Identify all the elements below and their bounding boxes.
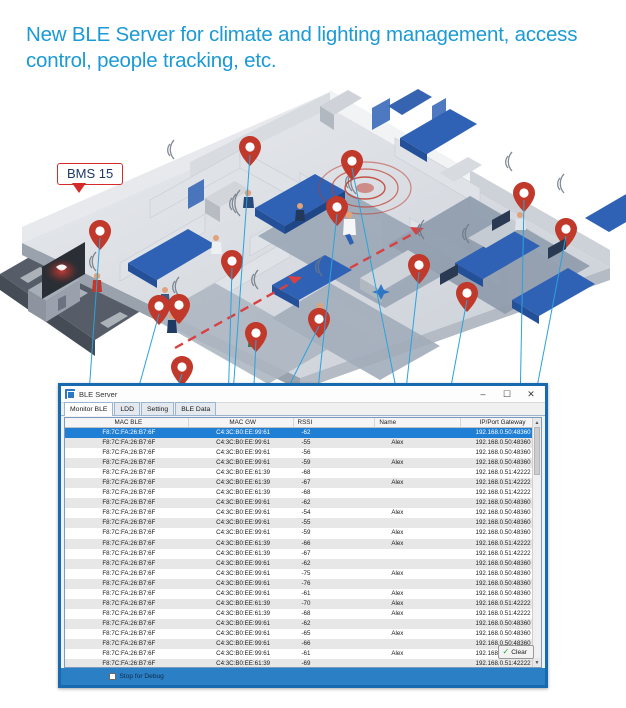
table-row[interactable]: F8:7C:FA:26:B7:6FC4:3C:B0:EE:99:61-75Ale…: [65, 569, 541, 579]
cell-rssi: -62: [294, 428, 376, 438]
cell-mac-gw: C4:3C:B0:EE:61:39: [189, 488, 294, 498]
window-statusbar: Stop for Debug: [61, 668, 545, 685]
cell-mac-gw: C4:3C:B0:EE:99:61: [189, 448, 294, 458]
cell-mac-gw: C4:3C:B0:EE:99:61: [189, 579, 294, 589]
cell-rssi: -69: [294, 659, 376, 667]
table-row[interactable]: F8:7C:FA:26:B7:6FC4:3C:B0:EE:61:39-68192…: [65, 468, 541, 478]
ble-devices-table: MAC BLE MAC GW RSSI Name IP/Port Gateway…: [64, 417, 542, 668]
cell-mac-ble: F8:7C:FA:26:B7:6F: [65, 488, 189, 498]
table-row[interactable]: F8:7C:FA:26:B7:6FC4:3C:B0:EE:61:39-66Ale…: [65, 539, 541, 549]
cell-mac-gw: C4:3C:B0:EE:99:61: [189, 619, 294, 629]
cell-mac-gw: C4:3C:B0:EE:99:61: [189, 458, 294, 468]
cell-rssi: -68: [294, 609, 376, 619]
cell-mac-ble: F8:7C:FA:26:B7:6F: [65, 478, 189, 488]
cell-ip-port: 192.168.0.50:48360: [461, 448, 541, 458]
cell-rssi: -65: [294, 629, 376, 639]
cell-rssi: -55: [294, 438, 376, 448]
table-row[interactable]: F8:7C:FA:26:B7:6FC4:3C:B0:EE:99:61-55192…: [65, 518, 541, 528]
tab-setting[interactable]: Setting: [141, 402, 174, 415]
cell-name: Alex: [375, 599, 461, 609]
cell-mac-ble: F8:7C:FA:26:B7:6F: [65, 508, 189, 518]
cell-rssi: -67: [294, 549, 376, 559]
table-row[interactable]: F8:7C:FA:26:B7:6FC4:3C:B0:EE:99:61-65Ale…: [65, 629, 541, 639]
clear-button-label: Clear: [511, 649, 527, 656]
cell-name: Alex: [375, 508, 461, 518]
cell-rssi: -59: [294, 458, 376, 468]
cell-ip-port: 192.168.0.51:42222: [461, 488, 541, 498]
close-icon[interactable]: ✕: [519, 386, 543, 402]
cell-name: Alex: [375, 458, 461, 468]
window-titlebar: BLE Server – ☐ ✕: [61, 386, 545, 403]
cell-ip-port: 192.168.0.51:42222: [461, 478, 541, 488]
table-row[interactable]: F8:7C:FA:26:B7:6FC4:3C:B0:EE:99:61-59Ale…: [65, 458, 541, 468]
cell-rssi: -61: [294, 649, 376, 659]
cell-mac-gw: C4:3C:B0:EE:61:39: [189, 468, 294, 478]
window-controls: – ☐ ✕: [471, 386, 543, 402]
cell-rssi: -56: [294, 448, 376, 458]
table-body: F8:7C:FA:26:B7:6FC4:3C:B0:EE:99:61-62192…: [65, 428, 541, 667]
cell-rssi: -62: [294, 619, 376, 629]
cell-ip-port: 192.168.0.51:42222: [461, 659, 541, 667]
scrollbar-track[interactable]: [533, 427, 541, 658]
cell-mac-ble: F8:7C:FA:26:B7:6F: [65, 659, 189, 667]
scroll-down-arrow-icon[interactable]: ▼: [533, 658, 541, 667]
cell-ip-port: 192.168.0.50:48360: [461, 508, 541, 518]
cell-mac-gw: C4:3C:B0:EE:99:61: [189, 438, 294, 448]
table-row[interactable]: F8:7C:FA:26:B7:6FC4:3C:B0:EE:99:61-62192…: [65, 559, 541, 569]
cell-mac-ble: F8:7C:FA:26:B7:6F: [65, 498, 189, 508]
cell-mac-ble: F8:7C:FA:26:B7:6F: [65, 569, 189, 579]
cell-rssi: -62: [294, 559, 376, 569]
cell-ip-port: 192.168.0.50:48360: [461, 569, 541, 579]
cell-mac-gw: C4:3C:B0:EE:99:61: [189, 569, 294, 579]
cell-mac-gw: C4:3C:B0:EE:61:39: [189, 659, 294, 667]
stop-for-debug-label: Stop for Debug: [120, 673, 164, 680]
table-row[interactable]: F8:7C:FA:26:B7:6FC4:3C:B0:EE:99:61-56192…: [65, 448, 541, 458]
callout-pointer-icon: [72, 183, 86, 193]
cell-name: Alex: [375, 539, 461, 549]
cell-rssi: -54: [294, 508, 376, 518]
cell-rssi: -68: [294, 468, 376, 478]
table-row[interactable]: F8:7C:FA:26:B7:6FC4:3C:B0:EE:61:39-67Ale…: [65, 478, 541, 488]
table-row[interactable]: F8:7C:FA:26:B7:6FC4:3C:B0:EE:99:61-55Ale…: [65, 438, 541, 448]
table-row[interactable]: F8:7C:FA:26:B7:6FC4:3C:B0:EE:99:61-59Ale…: [65, 528, 541, 538]
table-row[interactable]: F8:7C:FA:26:B7:6FC4:3C:B0:EE:99:61-66192…: [65, 639, 541, 649]
cell-name: Alex: [375, 629, 461, 639]
cell-mac-gw: C4:3C:B0:EE:99:61: [189, 498, 294, 508]
cell-mac-gw: C4:3C:B0:EE:99:61: [189, 518, 294, 528]
table-row[interactable]: F8:7C:FA:26:B7:6FC4:3C:B0:EE:99:61-61Ale…: [65, 649, 541, 659]
table-header-row: MAC BLE MAC GW RSSI Name IP/Port Gateway: [65, 418, 541, 428]
app-logo-icon: [65, 389, 75, 399]
page-title: New BLE Server for climate and lighting …: [26, 22, 616, 74]
cell-mac-gw: C4:3C:B0:EE:99:61: [189, 639, 294, 649]
table-scrollbar[interactable]: ▲ ▼: [532, 418, 541, 667]
cell-ip-port: 192.168.0.50:48360: [461, 458, 541, 468]
cell-mac-ble: F8:7C:FA:26:B7:6F: [65, 518, 189, 528]
cell-mac-gw: C4:3C:B0:EE:99:61: [189, 629, 294, 639]
cell-mac-ble: F8:7C:FA:26:B7:6F: [65, 559, 189, 569]
table-row[interactable]: F8:7C:FA:26:B7:6FC4:3C:B0:EE:61:39-70Ale…: [65, 599, 541, 609]
table-row[interactable]: F8:7C:FA:26:B7:6FC4:3C:B0:EE:99:61-62192…: [65, 498, 541, 508]
cell-ip-port: 192.168.0.50:48360: [461, 559, 541, 569]
cell-mac-gw: C4:3C:B0:EE:99:61: [189, 559, 294, 569]
table-row[interactable]: F8:7C:FA:26:B7:6FC4:3C:B0:EE:99:61-76192…: [65, 579, 541, 589]
cell-mac-ble: F8:7C:FA:26:B7:6F: [65, 528, 189, 538]
cell-rssi: -70: [294, 599, 376, 609]
window-title: BLE Server: [79, 390, 471, 399]
cell-ip-port: 192.168.0.50:48360: [461, 579, 541, 589]
bms-callout: BMS 15: [57, 163, 123, 185]
cell-mac-gw: C4:3C:B0:EE:99:61: [189, 649, 294, 659]
cell-mac-gw: C4:3C:B0:EE:99:61: [189, 428, 294, 438]
cell-mac-ble: F8:7C:FA:26:B7:6F: [65, 639, 189, 649]
cell-ip-port: 192.168.0.50:48360: [461, 589, 541, 599]
cell-rssi: -59: [294, 528, 376, 538]
cell-ip-port: 192.168.0.50:48360: [461, 518, 541, 528]
cell-ip-port: 192.168.0.51:42222: [461, 539, 541, 549]
cell-name: Alex: [375, 589, 461, 599]
column-header-mac-ble[interactable]: MAC BLE: [65, 418, 189, 427]
cell-mac-ble: F8:7C:FA:26:B7:6F: [65, 619, 189, 629]
cell-rssi: -67: [294, 478, 376, 488]
cell-rssi: -75: [294, 569, 376, 579]
cell-mac-gw: C4:3C:B0:EE:61:39: [189, 478, 294, 488]
column-header-rssi[interactable]: RSSI: [294, 418, 376, 427]
cell-mac-ble: F8:7C:FA:26:B7:6F: [65, 468, 189, 478]
cell-ip-port: 192.168.0.51:42222: [461, 468, 541, 478]
cell-name: Alex: [375, 478, 461, 488]
cell-mac-ble: F8:7C:FA:26:B7:6F: [65, 589, 189, 599]
cell-mac-ble: F8:7C:FA:26:B7:6F: [65, 609, 189, 619]
table-row[interactable]: F8:7C:FA:26:B7:6FC4:3C:B0:EE:61:39-67192…: [65, 549, 541, 559]
cell-ip-port: 192.168.0.51:42222: [461, 549, 541, 559]
ble-server-window: BLE Server – ☐ ✕ Monitor BLE LDD Setting…: [58, 383, 548, 688]
cell-mac-gw: C4:3C:B0:EE:99:61: [189, 528, 294, 538]
cell-rssi: -62: [294, 498, 376, 508]
maximize-icon[interactable]: ☐: [495, 386, 519, 402]
table-row[interactable]: F8:7C:FA:26:B7:6FC4:3C:B0:EE:61:39-68192…: [65, 488, 541, 498]
bms-callout-label: BMS 15: [67, 166, 113, 181]
cell-rssi: -68: [294, 488, 376, 498]
clear-button[interactable]: ✓ Clear: [498, 645, 534, 659]
cell-ip-port: 192.168.0.50:48360: [461, 498, 541, 508]
cell-ip-port: 192.168.0.50:48360: [461, 528, 541, 538]
scrollbar-thumb[interactable]: [534, 427, 540, 475]
cell-rssi: -61: [294, 589, 376, 599]
page-root: New BLE Server for climate and lighting …: [0, 0, 626, 708]
table-row[interactable]: F8:7C:FA:26:B7:6FC4:3C:B0:EE:61:39-69192…: [65, 659, 541, 667]
cell-mac-gw: C4:3C:B0:EE:99:61: [189, 508, 294, 518]
check-icon: ✓: [503, 648, 510, 656]
cell-ip-port: 192.168.0.50:48360: [461, 629, 541, 639]
cell-ip-port: 192.168.0.51:42222: [461, 609, 541, 619]
cell-ip-port: 192.168.0.50:48360: [461, 438, 541, 448]
table-row[interactable]: F8:7C:FA:26:B7:6FC4:3C:B0:EE:99:61-61Ale…: [65, 589, 541, 599]
cell-rssi: -76: [294, 579, 376, 589]
cell-mac-gw: C4:3C:B0:EE:99:61: [189, 589, 294, 599]
cell-mac-ble: F8:7C:FA:26:B7:6F: [65, 539, 189, 549]
cell-mac-ble: F8:7C:FA:26:B7:6F: [65, 599, 189, 609]
tab-ldd[interactable]: LDD: [114, 402, 140, 415]
cell-mac-gw: C4:3C:B0:EE:61:39: [189, 549, 294, 559]
table-row[interactable]: F8:7C:FA:26:B7:6FC4:3C:B0:EE:99:61-54Ale…: [65, 508, 541, 518]
tabstrip: Monitor BLE LDD Setting BLE Data: [61, 403, 545, 416]
cell-mac-gw: C4:3C:B0:EE:61:39: [189, 609, 294, 619]
column-header-mac-gw[interactable]: MAC GW: [189, 418, 294, 427]
cell-name: Alex: [375, 609, 461, 619]
cell-rssi: -66: [294, 539, 376, 549]
cell-rssi: -66: [294, 639, 376, 649]
cell-mac-ble: F8:7C:FA:26:B7:6F: [65, 649, 189, 659]
cell-name: Alex: [375, 438, 461, 448]
column-header-ip-port-gateway[interactable]: IP/Port Gateway: [461, 418, 541, 427]
cell-rssi: -55: [294, 518, 376, 528]
cell-mac-ble: F8:7C:FA:26:B7:6F: [65, 579, 189, 589]
tab-ble-data[interactable]: BLE Data: [175, 402, 216, 415]
cell-ip-port: 192.168.0.51:42222: [461, 599, 541, 609]
cell-ip-port: 192.168.0.50:48360: [461, 428, 541, 438]
table-row[interactable]: F8:7C:FA:26:B7:6FC4:3C:B0:EE:61:39-68Ale…: [65, 609, 541, 619]
connector-lines: [0, 78, 626, 408]
cell-name: Alex: [375, 649, 461, 659]
cell-ip-port: 192.168.0.50:48360: [461, 619, 541, 629]
cell-mac-ble: F8:7C:FA:26:B7:6F: [65, 438, 189, 448]
stop-for-debug-checkbox[interactable]: [109, 673, 116, 680]
minimize-icon[interactable]: –: [471, 386, 495, 402]
column-header-name[interactable]: Name: [375, 418, 461, 427]
cell-mac-gw: C4:3C:B0:EE:61:39: [189, 599, 294, 609]
table-row[interactable]: F8:7C:FA:26:B7:6FC4:3C:B0:EE:99:61-62192…: [65, 428, 541, 438]
cell-mac-ble: F8:7C:FA:26:B7:6F: [65, 629, 189, 639]
cell-name: Alex: [375, 528, 461, 538]
cell-name: Alex: [375, 569, 461, 579]
cell-mac-ble: F8:7C:FA:26:B7:6F: [65, 448, 189, 458]
cell-mac-ble: F8:7C:FA:26:B7:6F: [65, 458, 189, 468]
cell-mac-ble: F8:7C:FA:26:B7:6F: [65, 549, 189, 559]
tab-monitor-ble[interactable]: Monitor BLE: [64, 402, 113, 416]
table-row[interactable]: F8:7C:FA:26:B7:6FC4:3C:B0:EE:99:61-62192…: [65, 619, 541, 629]
cell-mac-gw: C4:3C:B0:EE:61:39: [189, 539, 294, 549]
scroll-up-arrow-icon[interactable]: ▲: [533, 418, 541, 427]
cell-mac-ble: F8:7C:FA:26:B7:6F: [65, 428, 189, 438]
